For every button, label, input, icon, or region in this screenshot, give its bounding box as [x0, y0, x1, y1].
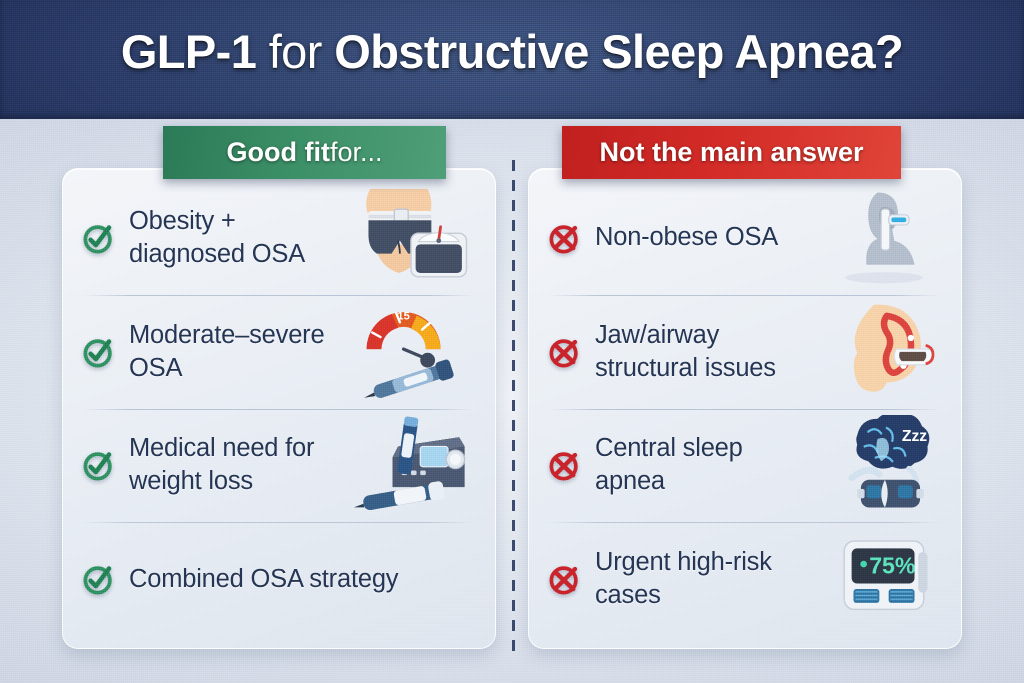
head-airway-anatomy-illustration [825, 301, 943, 403]
list-item-label: Moderate–severe OSA [129, 319, 332, 385]
list-item-label: Central sleep apnea [595, 432, 812, 498]
list-item: Medical need for weight loss [77, 409, 479, 523]
waist-and-scale-illustration [345, 187, 477, 289]
zzz-label: Zzz [902, 427, 927, 444]
banner-good-fit-soft: for... [330, 137, 383, 168]
list-item-label: Non-obese OSA [595, 221, 812, 254]
svg-text:15: 15 [397, 310, 409, 322]
list-item-label: Combined OSA strategy [129, 563, 477, 596]
check-circle-icon [81, 221, 116, 256]
banner-not-main-answer: Not the main answer [562, 126, 901, 179]
list-item-label: Obesity + diagnosed OSA [129, 205, 332, 271]
pulse-oximeter-illustration: 75% [825, 528, 943, 630]
check-circle-icon [81, 335, 116, 370]
injector-pens-and-device-illustration [345, 415, 477, 517]
x-circle-icon [547, 448, 582, 483]
check-circle-icon [81, 448, 116, 483]
x-circle-icon [547, 335, 582, 370]
list-item: Non-obese OSA [543, 181, 945, 295]
page-title-part-1: GLP-1 [121, 25, 256, 78]
page-title: GLP-1 for Obstructive Sleep Apnea? [0, 22, 1024, 82]
list-item: Central sleep apnea Zzz [543, 409, 945, 523]
list-item: Obesity + diagnosed OSA [77, 181, 479, 295]
list-item-label: Medical need for weight loss [129, 432, 332, 498]
list-item: Moderate–severe OSA 15 [77, 295, 479, 409]
list-item-label: Jaw/airway structural issues [595, 319, 812, 385]
list-item-label: Urgent high-risk cases [595, 546, 812, 612]
slim-person-with-mask-illustration [825, 187, 943, 289]
banner-good-fit-strong: Good fit [227, 137, 330, 168]
column-not-main-answer: Non-obese OSA [528, 168, 962, 649]
severity-gauge-and-pen-illustration: 15 [345, 301, 477, 403]
x-circle-icon [547, 221, 582, 256]
list-item: Urgent high-risk cases 75% [543, 522, 945, 636]
page-title-part-2: for [256, 25, 334, 78]
list-item: Combined OSA strategy [77, 522, 479, 636]
oximeter-reading: 75% [869, 553, 915, 579]
banner-good-fit: Good fit for... [163, 126, 446, 179]
brain-zzz-and-cpap-mask-illustration: Zzz [825, 415, 943, 517]
column-divider [512, 160, 515, 660]
list-item: Jaw/airway structural issues [543, 295, 945, 409]
x-circle-icon [547, 562, 582, 597]
page-title-part-3: Obstructive Sleep Apnea? [334, 25, 903, 78]
column-good-fit: Obesity + diagnosed OSA [62, 168, 496, 649]
infographic-poster: GLP-1 for Obstructive Sleep Apnea? Good … [0, 0, 1024, 683]
banner-not-main-answer-strong: Not the main answer [599, 137, 863, 168]
check-circle-icon [81, 562, 116, 597]
